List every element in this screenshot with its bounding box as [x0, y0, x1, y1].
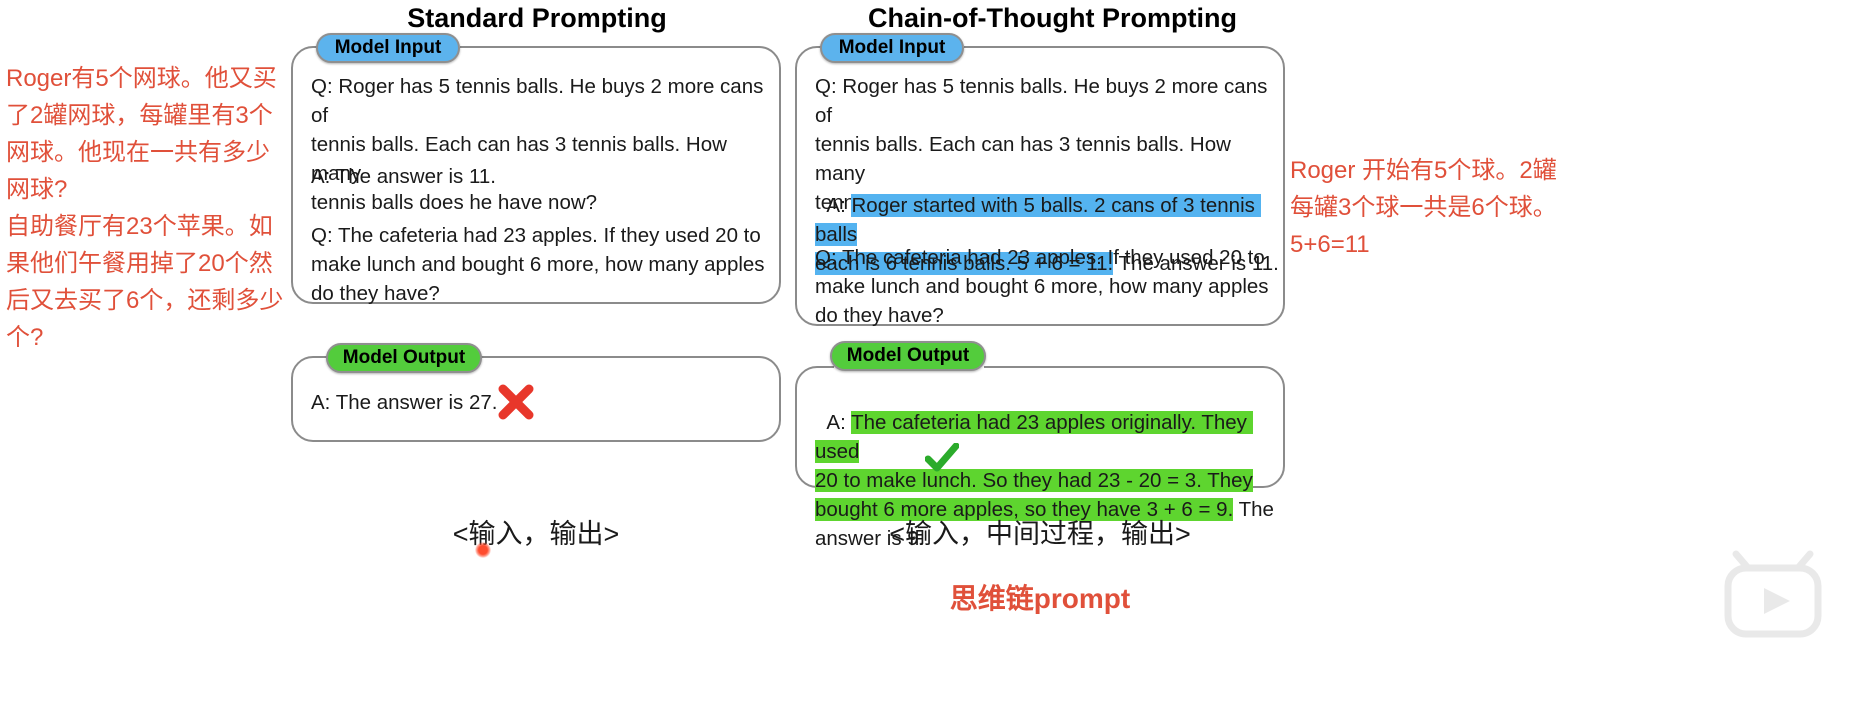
standard-input-answer-1: A: The answer is 11. [311, 162, 766, 191]
cursor-pointer [475, 542, 491, 558]
cot-caption: <输入，中间过程，输出> [795, 512, 1285, 551]
standard-caption: <输入，输出> [291, 512, 781, 551]
standard-prompting-title: Standard Prompting [292, 3, 782, 34]
annotation-left-top: Roger有5个网球。他又买 了2罐网球，每罐里有3个 网球。他现在一共有多少 … [6, 60, 306, 208]
cot-prompting-title: Chain-of-Thought Prompting [795, 3, 1310, 34]
cot-output-highlight: The cafeteria had 23 apples originally. … [815, 411, 1253, 521]
annotation-left-bottom: 自助餐厅有23个苹果。如 果他们午餐用掉了20个然 后又去买了6个，还剩多少 个… [6, 208, 306, 356]
bilibili-logo-icon [1718, 540, 1828, 655]
check-mark-icon [925, 443, 959, 477]
standard-model-input-label: Model Input [335, 37, 442, 59]
cot-model-input-label: Model Input [839, 37, 946, 59]
standard-model-output-pill: Model Output [326, 343, 482, 373]
cot-model-output-pill: Model Output [830, 341, 986, 371]
cot-input-answer-prefix: A: [826, 194, 851, 217]
standard-input-question-1: Q: Roger has 5 tennis balls. He buys 2 m… [311, 72, 766, 217]
cot-model-input-pill: Model Input [820, 33, 964, 63]
cot-model-output-label: Model Output [847, 345, 969, 367]
annotation-bottom-red: 思维链prompt [795, 577, 1285, 617]
cross-mark-icon [495, 382, 537, 428]
cot-output-prefix: A: [826, 411, 851, 434]
standard-model-output-label: Model Output [343, 347, 465, 369]
annotation-right: Roger 开始有5个球。2罐 每罐3个球一共是6个球。 5+6=11 [1290, 152, 1620, 263]
cot-input-question-2: Q: The cafeteria had 23 apples. If they … [815, 243, 1275, 330]
standard-model-input-pill: Model Input [316, 33, 460, 63]
standard-output-answer: A: The answer is 27. [311, 388, 631, 417]
standard-input-question-2: Q: The cafeteria had 23 apples. If they … [311, 221, 766, 308]
